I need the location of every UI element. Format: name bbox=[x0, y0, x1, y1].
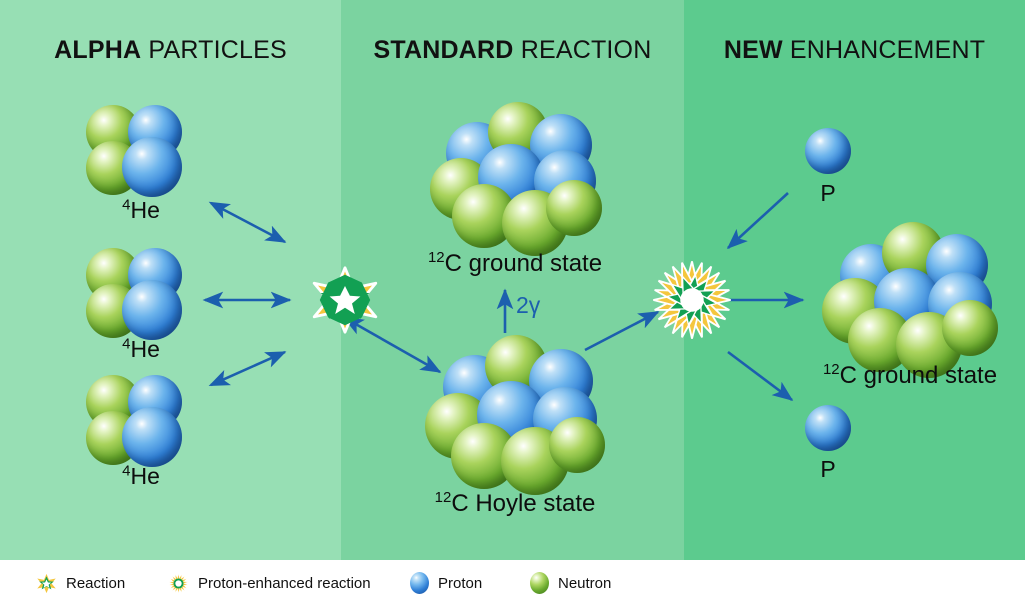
legend-label-reaction: Reaction bbox=[66, 575, 125, 592]
proton-enhanced-burst-icon bbox=[650, 258, 734, 342]
alpha-particle-1-label: 4He bbox=[86, 197, 196, 224]
proton-sphere-icon bbox=[122, 407, 182, 467]
heading-standard-bold: STANDARD bbox=[374, 36, 514, 64]
heading-new-rest: ENHANCEMENT bbox=[790, 36, 985, 64]
alpha-particle-3-label: 4He bbox=[86, 463, 196, 490]
incoming-proton bbox=[805, 128, 851, 174]
proton-sphere-icon bbox=[410, 572, 429, 594]
incoming-proton-label: P bbox=[798, 180, 858, 207]
heading-standard-rest: REACTION bbox=[521, 36, 652, 64]
heading-alpha-particles: ALPHA PARTICLES bbox=[0, 36, 341, 66]
legend-label-proton-enhanced-reaction: Proton-enhanced reaction bbox=[198, 575, 371, 592]
proton-sphere-icon bbox=[805, 128, 851, 174]
carbon12-ground-state-nucleus-enhancement bbox=[822, 222, 1000, 372]
proton-enhanced-burst-icon bbox=[168, 573, 189, 594]
legend: Reaction bbox=[0, 560, 1025, 606]
legend-label-neutron: Neutron bbox=[558, 575, 611, 592]
neutron-sphere-icon bbox=[546, 180, 602, 236]
carbon12-hoyle-state-label: 12C Hoyle state bbox=[390, 490, 640, 518]
legend-label-proton: Proton bbox=[438, 575, 482, 592]
legend-item-neutron: Neutron bbox=[530, 560, 611, 606]
alpha-1-element: He bbox=[130, 197, 159, 223]
gamma-emission-label: 2γ bbox=[516, 292, 540, 319]
neutron-sphere-icon bbox=[942, 300, 998, 356]
ground-state-text-enhancement: C ground state bbox=[840, 362, 997, 389]
legend-item-proton-enhanced-reaction: Proton-enhanced reaction bbox=[168, 560, 371, 606]
reaction-star-icon bbox=[310, 265, 380, 335]
alpha-particle-3 bbox=[86, 375, 196, 470]
carbon12-ground-state-label-standard: 12C ground state bbox=[390, 250, 640, 278]
carbon12-ground-state-nucleus-standard bbox=[430, 100, 600, 250]
alpha-particle-1 bbox=[86, 105, 196, 200]
heading-standard-reaction: STANDARD REACTION bbox=[341, 36, 684, 66]
alpha-particle-2 bbox=[86, 248, 196, 343]
hoyle-state-mass-number: 12 bbox=[435, 489, 452, 506]
legend-item-reaction: Reaction bbox=[36, 560, 125, 606]
reaction-star-icon bbox=[36, 573, 57, 594]
heading-alpha-bold: ALPHA bbox=[54, 36, 141, 64]
hoyle-state-text: C Hoyle state bbox=[451, 490, 595, 517]
neutron-sphere-icon bbox=[549, 417, 605, 473]
heading-new-bold: NEW bbox=[724, 36, 783, 64]
outgoing-proton-label: P bbox=[798, 456, 858, 483]
ground-state-text-standard: C ground state bbox=[445, 250, 602, 277]
ground-state-mass-number-enhancement: 12 bbox=[823, 361, 840, 378]
alpha-2-element: He bbox=[130, 336, 159, 362]
ground-state-mass-number-standard: 12 bbox=[428, 249, 445, 266]
outgoing-proton bbox=[805, 405, 851, 451]
figure-canvas: ALPHA PARTICLES STANDARD REACTION NEW EN… bbox=[0, 0, 1025, 606]
heading-new-enhancement: NEW ENHANCEMENT bbox=[684, 36, 1025, 66]
alpha-particle-2-label: 4He bbox=[86, 336, 196, 363]
proton-sphere-icon bbox=[805, 405, 851, 451]
proton-sphere-icon bbox=[122, 137, 182, 197]
heading-alpha-rest: PARTICLES bbox=[148, 36, 286, 64]
legend-item-proton: Proton bbox=[410, 560, 482, 606]
proton-sphere-icon bbox=[122, 280, 182, 340]
alpha-3-element: He bbox=[130, 463, 159, 489]
neutron-sphere-icon bbox=[530, 572, 549, 594]
carbon12-hoyle-state-nucleus bbox=[425, 335, 605, 490]
carbon12-ground-state-label-enhancement: 12C ground state bbox=[785, 362, 1025, 390]
